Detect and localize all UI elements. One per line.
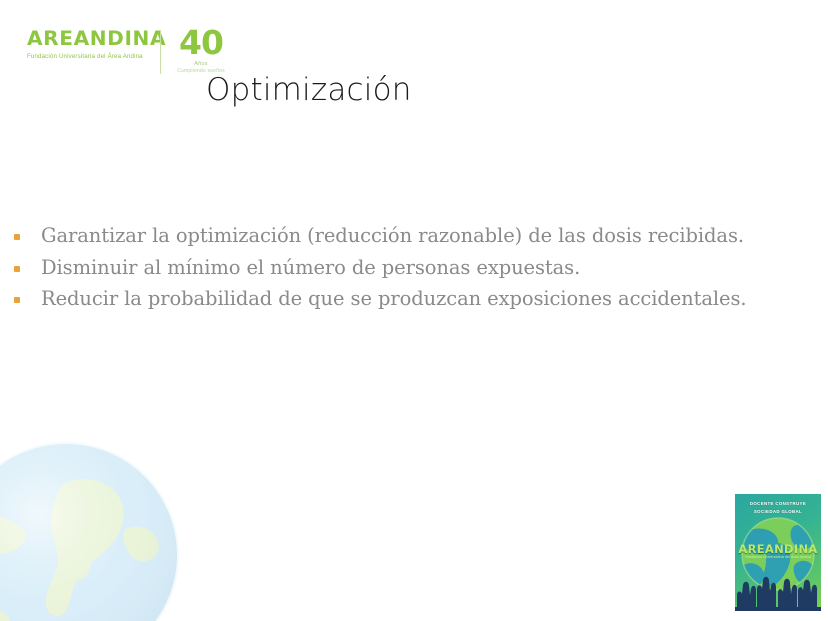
bullet-marker-icon: [14, 297, 20, 303]
list-item-text: Reducir la probabilidad de que se produz…: [41, 285, 746, 314]
list-item-text: Disminuir al mínimo el número de persona…: [41, 254, 580, 283]
anniversary-number: 40: [173, 26, 229, 59]
globe-illustration: [0, 437, 184, 621]
poster-headline: DOCENTE CONSTRUYE SOCIEDAD GLOBAL: [735, 500, 821, 515]
logo-wordmark: AREANDINA: [27, 29, 149, 49]
anniversary-badge: 40 Años Cumpliendo sueños: [173, 26, 229, 74]
page-title: Optimización: [206, 72, 412, 108]
logo-tagline: Fundación Universitaria del Área Andina: [27, 53, 145, 60]
bullet-list: Garantizar la optimización (reducción ra…: [14, 222, 814, 317]
list-item: Garantizar la optimización (reducción ra…: [14, 222, 814, 251]
bullet-marker-icon: [14, 266, 20, 272]
logo-wordmark-group: AREANDINA Fundación Universitaria del Ár…: [27, 29, 145, 60]
logo-divider: [160, 30, 161, 74]
slide-canvas: AREANDINA Fundación Universitaria del Ár…: [0, 0, 828, 621]
raised-hands-silhouette-icon: [735, 571, 821, 611]
list-item-text: Garantizar la optimización (reducción ra…: [41, 222, 744, 251]
bullet-marker-icon: [14, 234, 20, 240]
poster-brand: AREANDINA: [735, 542, 821, 556]
areandina-campaign-poster: DOCENTE CONSTRUYE SOCIEDAD GLOBAL AREAND…: [735, 494, 821, 611]
poster-brand-sub: Fundación Universitaria del Área Andina: [735, 555, 821, 559]
poster-headline-line1: DOCENTE CONSTRUYE: [735, 500, 821, 508]
list-item: Disminuir al mínimo el número de persona…: [14, 254, 814, 283]
areandina-logo: AREANDINA Fundación Universitaria del Ár…: [27, 29, 202, 77]
list-item: Reducir la probabilidad de que se produz…: [14, 285, 814, 314]
poster-headline-line2: SOCIEDAD GLOBAL: [735, 508, 821, 516]
